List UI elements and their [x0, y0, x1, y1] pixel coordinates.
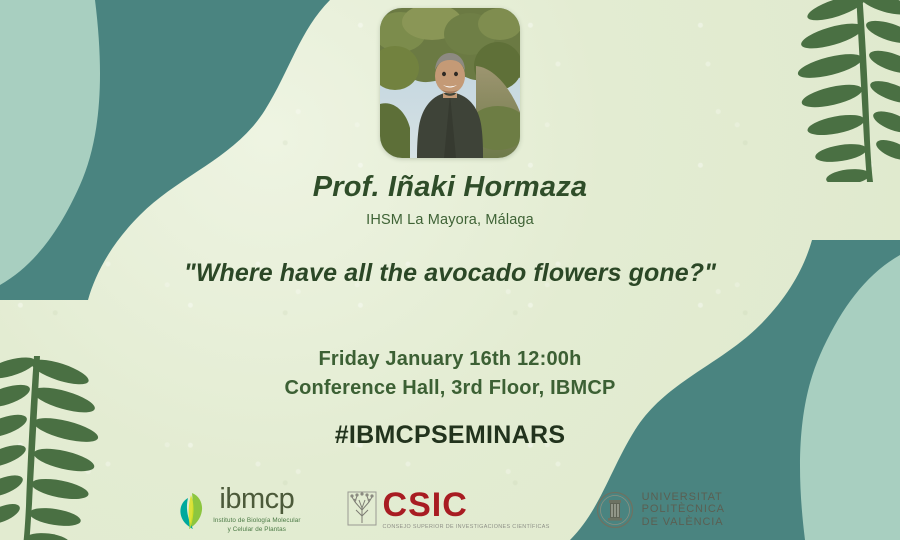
- speaker-name: Prof. Iñaki Hormaza: [0, 172, 900, 204]
- logo-row: ibmcp Instituto de Biología Molecular y …: [0, 485, 900, 534]
- ibmcp-logo: ibmcp Instituto de Biología Molecular y …: [175, 485, 300, 534]
- poster-content: Prof. Iñaki Hormaza IHSM La Mayora, Mála…: [0, 172, 900, 450]
- ibmcp-subtitle: Instituto de Biología Molecular y Celula…: [213, 517, 300, 534]
- upv-line-1: UNIVERSITAT: [642, 491, 725, 503]
- ibmcp-wordmark: ibmcp: [219, 485, 294, 514]
- csic-seal-icon: [347, 490, 377, 530]
- ibmcp-leaf-icon: [175, 489, 209, 531]
- upv-line-2: POLITÈCNICA: [642, 503, 725, 515]
- upv-logo: UNIVERSITAT POLITÈCNICA DE VALÈNCIA: [596, 491, 725, 529]
- event-hashtag: #IBMCPSEMINARS: [0, 421, 900, 450]
- csic-wordmark: CSIC: [383, 490, 550, 521]
- event-details: Friday January 16th 12:00h Conference Ha…: [0, 345, 900, 403]
- speaker-affiliation: IHSM La Mayora, Málaga: [0, 212, 900, 228]
- seminar-poster: Prof. Iñaki Hormaza IHSM La Mayora, Mála…: [0, 0, 900, 540]
- ibmcp-subtitle-line1: Instituto de Biología Molecular: [213, 517, 300, 526]
- csic-subtitle: CONSEJO SUPERIOR DE INVESTIGACIONES CIEN…: [383, 524, 550, 530]
- upv-seal-icon: [596, 491, 634, 529]
- talk-title: "Where have all the avocado flowers gone…: [0, 259, 900, 288]
- portrait-image: [380, 8, 520, 158]
- event-venue: Conference Hall, 3rd Floor, IBMCP: [0, 374, 900, 403]
- event-date: Friday January 16th 12:00h: [0, 345, 900, 374]
- csic-logo: CSIC CONSEJO SUPERIOR DE INVESTIGACIONES…: [347, 490, 550, 530]
- upv-line-3: DE VALÈNCIA: [642, 516, 725, 528]
- fern-leaf-top-right: [766, 0, 900, 182]
- ibmcp-subtitle-line2: y Celular de Plantas: [213, 526, 300, 535]
- speaker-photo: [380, 8, 520, 158]
